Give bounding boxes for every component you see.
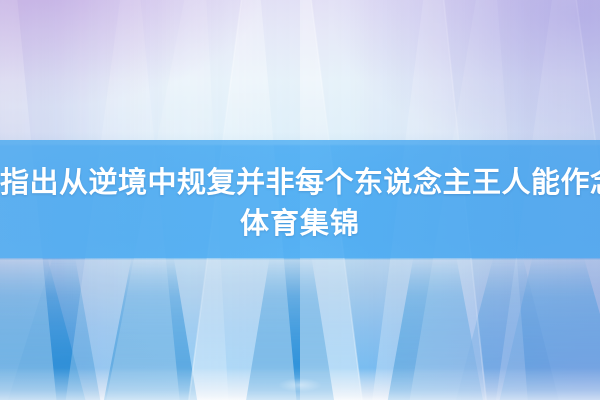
banner-headline: 指出从逆境中规复并非每个东说念主王人能作念到 体育集锦 [0,163,600,245]
faint-watermark-smudge [278,378,322,392]
banner-card: 指出从逆境中规复并非每个东说念主王人能作念到 体育集锦 [0,0,600,400]
headline-line-2: 体育集锦 [0,204,600,245]
headline-line-1: 指出从逆境中规复并非每个东说念主王人能作念到 [0,163,600,204]
